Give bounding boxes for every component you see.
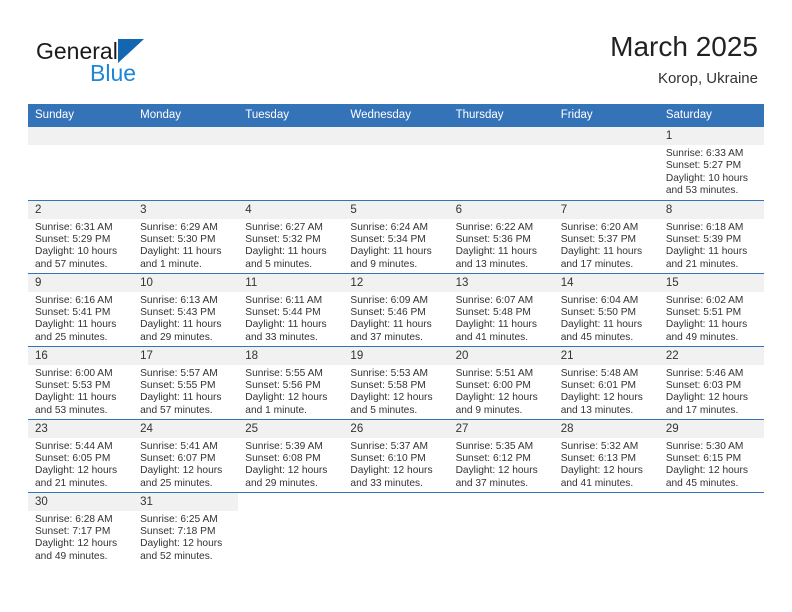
- daylight-duration-line2: and 1 minute.: [245, 405, 337, 417]
- daylight-duration-line1: Daylight: 12 hours: [666, 465, 758, 477]
- day-cell[interactable]: 3Sunrise: 6:29 AMSunset: 5:30 PMDaylight…: [133, 200, 238, 273]
- day-cell-empty: [659, 492, 764, 565]
- daylight-duration-line1: Daylight: 12 hours: [350, 392, 442, 404]
- day-details: Sunrise: 6:22 AMSunset: 5:36 PMDaylight:…: [449, 219, 554, 272]
- page-header: General Blue March 2025 Korop, Ukraine: [0, 0, 792, 104]
- day-number: 14: [554, 274, 659, 292]
- day-cell-empty: [449, 492, 554, 565]
- calendar-week-row: 9Sunrise: 6:16 AMSunset: 5:41 PMDaylight…: [28, 273, 764, 346]
- day-cell-empty: [554, 492, 659, 565]
- day-details: Sunrise: 5:37 AMSunset: 6:10 PMDaylight:…: [343, 438, 448, 491]
- sunset-time: Sunset: 6:01 PM: [561, 380, 653, 392]
- day-details: Sunrise: 6:02 AMSunset: 5:51 PMDaylight:…: [659, 292, 764, 345]
- day-cell[interactable]: 11Sunrise: 6:11 AMSunset: 5:44 PMDayligh…: [238, 273, 343, 346]
- sunrise-time: Sunrise: 5:53 AM: [350, 368, 442, 380]
- day-number: 12: [343, 274, 448, 292]
- daylight-duration-line1: Daylight: 11 hours: [666, 246, 758, 258]
- sunset-time: Sunset: 6:00 PM: [456, 380, 548, 392]
- sunrise-time: Sunrise: 6:02 AM: [666, 295, 758, 307]
- day-cell[interactable]: 15Sunrise: 6:02 AMSunset: 5:51 PMDayligh…: [659, 273, 764, 346]
- daylight-duration-line1: Daylight: 12 hours: [456, 392, 548, 404]
- daylight-duration-line2: and 9 minutes.: [456, 405, 548, 417]
- day-number: 3: [133, 201, 238, 219]
- calendar-header-row: Sunday Monday Tuesday Wednesday Thursday…: [28, 104, 764, 127]
- daylight-duration-line1: Daylight: 11 hours: [140, 392, 232, 404]
- day-number: 5: [343, 201, 448, 219]
- day-number: 13: [449, 274, 554, 292]
- day-number: 25: [238, 420, 343, 438]
- day-cell[interactable]: 25Sunrise: 5:39 AMSunset: 6:08 PMDayligh…: [238, 419, 343, 492]
- day-number: 1: [659, 127, 764, 145]
- day-cell[interactable]: 4Sunrise: 6:27 AMSunset: 5:32 PMDaylight…: [238, 200, 343, 273]
- daylight-duration-line1: Daylight: 12 hours: [140, 538, 232, 550]
- sunrise-time: Sunrise: 6:25 AM: [140, 514, 232, 526]
- sunrise-time: Sunrise: 5:55 AM: [245, 368, 337, 380]
- daylight-duration-line2: and 41 minutes.: [456, 332, 548, 344]
- sunrise-time: Sunrise: 6:29 AM: [140, 222, 232, 234]
- day-details: Sunrise: 5:32 AMSunset: 6:13 PMDaylight:…: [554, 438, 659, 491]
- daylight-duration-line1: Daylight: 11 hours: [140, 246, 232, 258]
- daylight-duration-line1: Daylight: 12 hours: [666, 392, 758, 404]
- day-cell[interactable]: 14Sunrise: 6:04 AMSunset: 5:50 PMDayligh…: [554, 273, 659, 346]
- sunset-time: Sunset: 6:08 PM: [245, 453, 337, 465]
- daylight-duration-line2: and 21 minutes.: [666, 259, 758, 271]
- day-cell-empty: [343, 127, 448, 200]
- day-details: Sunrise: 6:31 AMSunset: 5:29 PMDaylight:…: [28, 219, 133, 272]
- daylight-duration-line1: Daylight: 12 hours: [140, 465, 232, 477]
- day-number: 6: [449, 201, 554, 219]
- day-cell[interactable]: 27Sunrise: 5:35 AMSunset: 6:12 PMDayligh…: [449, 419, 554, 492]
- day-details: Sunrise: 6:29 AMSunset: 5:30 PMDaylight:…: [133, 219, 238, 272]
- daylight-duration-line2: and 52 minutes.: [140, 551, 232, 563]
- day-cell[interactable]: 18Sunrise: 5:55 AMSunset: 5:56 PMDayligh…: [238, 346, 343, 419]
- daylight-duration-line1: Daylight: 11 hours: [245, 319, 337, 331]
- day-number: [449, 493, 554, 511]
- sunset-time: Sunset: 5:55 PM: [140, 380, 232, 392]
- daylight-duration-line2: and 25 minutes.: [35, 332, 127, 344]
- daylight-duration-line2: and 37 minutes.: [456, 478, 548, 490]
- day-cell[interactable]: 13Sunrise: 6:07 AMSunset: 5:48 PMDayligh…: [449, 273, 554, 346]
- calendar-week-row: 30Sunrise: 6:28 AMSunset: 7:17 PMDayligh…: [28, 492, 764, 565]
- sunrise-time: Sunrise: 6:27 AM: [245, 222, 337, 234]
- day-details: Sunrise: 5:39 AMSunset: 6:08 PMDaylight:…: [238, 438, 343, 491]
- sunset-time: Sunset: 5:50 PM: [561, 307, 653, 319]
- day-number: 18: [238, 347, 343, 365]
- day-number: 2: [28, 201, 133, 219]
- title-block: March 2025 Korop, Ukraine: [610, 30, 758, 90]
- day-cell-empty: [449, 127, 554, 200]
- page-title: March 2025: [610, 30, 758, 64]
- sunrise-time: Sunrise: 5:44 AM: [35, 441, 127, 453]
- sunrise-time: Sunrise: 6:11 AM: [245, 295, 337, 307]
- daylight-duration-line1: Daylight: 11 hours: [140, 319, 232, 331]
- day-number: 21: [554, 347, 659, 365]
- day-number: 10: [133, 274, 238, 292]
- sunrise-time: Sunrise: 6:20 AM: [561, 222, 653, 234]
- day-number: 17: [133, 347, 238, 365]
- sunrise-time: Sunrise: 6:16 AM: [35, 295, 127, 307]
- day-number: 26: [343, 420, 448, 438]
- day-details: Sunrise: 5:46 AMSunset: 6:03 PMDaylight:…: [659, 365, 764, 418]
- daylight-duration-line2: and 33 minutes.: [350, 478, 442, 490]
- day-number: [133, 127, 238, 145]
- daylight-duration-line1: Daylight: 12 hours: [245, 392, 337, 404]
- sunrise-time: Sunrise: 6:04 AM: [561, 295, 653, 307]
- sunset-time: Sunset: 6:13 PM: [561, 453, 653, 465]
- weekday-header-saturday: Saturday: [659, 104, 764, 127]
- sunset-time: Sunset: 5:43 PM: [140, 307, 232, 319]
- day-number: [554, 493, 659, 511]
- day-details: Sunrise: 5:30 AMSunset: 6:15 PMDaylight:…: [659, 438, 764, 491]
- weekday-header-monday: Monday: [133, 104, 238, 127]
- daylight-duration-line1: Daylight: 12 hours: [245, 465, 337, 477]
- daylight-duration-line2: and 25 minutes.: [140, 478, 232, 490]
- day-cell[interactable]: 26Sunrise: 5:37 AMSunset: 6:10 PMDayligh…: [343, 419, 448, 492]
- daylight-duration-line1: Daylight: 10 hours: [35, 246, 127, 258]
- day-cell[interactable]: 23Sunrise: 5:44 AMSunset: 6:05 PMDayligh…: [28, 419, 133, 492]
- daylight-duration-line2: and 5 minutes.: [245, 259, 337, 271]
- day-cell-empty: [133, 127, 238, 200]
- day-cell[interactable]: 9Sunrise: 6:16 AMSunset: 5:41 PMDaylight…: [28, 273, 133, 346]
- sunset-time: Sunset: 5:32 PM: [245, 234, 337, 246]
- calendar-week-row: 23Sunrise: 5:44 AMSunset: 6:05 PMDayligh…: [28, 419, 764, 492]
- day-details: Sunrise: 6:24 AMSunset: 5:34 PMDaylight:…: [343, 219, 448, 272]
- daylight-duration-line2: and 49 minutes.: [666, 332, 758, 344]
- day-number: [238, 127, 343, 145]
- day-cell[interactable]: 20Sunrise: 5:51 AMSunset: 6:00 PMDayligh…: [449, 346, 554, 419]
- day-number: 8: [659, 201, 764, 219]
- daylight-duration-line2: and 45 minutes.: [561, 332, 653, 344]
- sunrise-time: Sunrise: 5:41 AM: [140, 441, 232, 453]
- calendar-week-row: 1Sunrise: 6:33 AMSunset: 5:27 PMDaylight…: [28, 127, 764, 200]
- daylight-duration-line1: Daylight: 12 hours: [35, 538, 127, 550]
- daylight-duration-line1: Daylight: 12 hours: [35, 465, 127, 477]
- day-number: 20: [449, 347, 554, 365]
- day-cell[interactable]: 12Sunrise: 6:09 AMSunset: 5:46 PMDayligh…: [343, 273, 448, 346]
- daylight-duration-line2: and 53 minutes.: [35, 405, 127, 417]
- day-cell[interactable]: 30Sunrise: 6:28 AMSunset: 7:17 PMDayligh…: [28, 492, 133, 565]
- day-cell[interactable]: 28Sunrise: 5:32 AMSunset: 6:13 PMDayligh…: [554, 419, 659, 492]
- day-details: Sunrise: 6:16 AMSunset: 5:41 PMDaylight:…: [28, 292, 133, 345]
- day-cell[interactable]: 5Sunrise: 6:24 AMSunset: 5:34 PMDaylight…: [343, 200, 448, 273]
- sunset-time: Sunset: 6:15 PM: [666, 453, 758, 465]
- day-number: 31: [133, 493, 238, 511]
- logo-text-blue: Blue: [90, 60, 136, 86]
- sunset-time: Sunset: 6:03 PM: [666, 380, 758, 392]
- day-number: 15: [659, 274, 764, 292]
- day-details: Sunrise: 5:55 AMSunset: 5:56 PMDaylight:…: [238, 365, 343, 418]
- calendar-week-row: 16Sunrise: 6:00 AMSunset: 5:53 PMDayligh…: [28, 346, 764, 419]
- day-number: 27: [449, 420, 554, 438]
- day-cell-empty: [343, 492, 448, 565]
- sunrise-time: Sunrise: 5:57 AM: [140, 368, 232, 380]
- sunrise-time: Sunrise: 6:22 AM: [456, 222, 548, 234]
- day-number: 4: [238, 201, 343, 219]
- day-cell[interactable]: 29Sunrise: 5:30 AMSunset: 6:15 PMDayligh…: [659, 419, 764, 492]
- calendar-page: General Blue March 2025 Korop, Ukraine S…: [0, 0, 792, 612]
- sunrise-time: Sunrise: 6:24 AM: [350, 222, 442, 234]
- day-cell[interactable]: 21Sunrise: 5:48 AMSunset: 6:01 PMDayligh…: [554, 346, 659, 419]
- day-details: Sunrise: 6:11 AMSunset: 5:44 PMDaylight:…: [238, 292, 343, 345]
- day-number: [343, 127, 448, 145]
- weekday-header-friday: Friday: [554, 104, 659, 127]
- sunset-time: Sunset: 5:46 PM: [350, 307, 442, 319]
- general-blue-logo[interactable]: General Blue: [36, 38, 266, 94]
- daylight-duration-line1: Daylight: 11 hours: [350, 246, 442, 258]
- day-details: Sunrise: 6:20 AMSunset: 5:37 PMDaylight:…: [554, 219, 659, 272]
- daylight-duration-line2: and 53 minutes.: [666, 185, 758, 197]
- sunset-time: Sunset: 5:36 PM: [456, 234, 548, 246]
- sunrise-time: Sunrise: 5:51 AM: [456, 368, 548, 380]
- day-cell[interactable]: 22Sunrise: 5:46 AMSunset: 6:03 PMDayligh…: [659, 346, 764, 419]
- day-cell[interactable]: 2Sunrise: 6:31 AMSunset: 5:29 PMDaylight…: [28, 200, 133, 273]
- daylight-duration-line2: and 21 minutes.: [35, 478, 127, 490]
- day-cell[interactable]: 24Sunrise: 5:41 AMSunset: 6:07 PMDayligh…: [133, 419, 238, 492]
- sunset-time: Sunset: 6:10 PM: [350, 453, 442, 465]
- day-cell[interactable]: 17Sunrise: 5:57 AMSunset: 5:55 PMDayligh…: [133, 346, 238, 419]
- day-details: Sunrise: 6:33 AMSunset: 5:27 PMDaylight:…: [659, 145, 764, 198]
- day-details: Sunrise: 6:00 AMSunset: 5:53 PMDaylight:…: [28, 365, 133, 418]
- day-number: 19: [343, 347, 448, 365]
- day-details: Sunrise: 5:53 AMSunset: 5:58 PMDaylight:…: [343, 365, 448, 418]
- day-details: Sunrise: 5:41 AMSunset: 6:07 PMDaylight:…: [133, 438, 238, 491]
- sunset-time: Sunset: 5:53 PM: [35, 380, 127, 392]
- sunrise-time: Sunrise: 6:33 AM: [666, 148, 758, 160]
- sunset-time: Sunset: 5:39 PM: [666, 234, 758, 246]
- day-cell-empty: [238, 492, 343, 565]
- daylight-duration-line1: Daylight: 10 hours: [666, 173, 758, 185]
- sunrise-time: Sunrise: 6:09 AM: [350, 295, 442, 307]
- sunrise-time: Sunrise: 6:00 AM: [35, 368, 127, 380]
- daylight-duration-line2: and 37 minutes.: [350, 332, 442, 344]
- day-number: 11: [238, 274, 343, 292]
- daylight-duration-line1: Daylight: 11 hours: [561, 319, 653, 331]
- daylight-duration-line2: and 57 minutes.: [35, 259, 127, 271]
- day-details: Sunrise: 6:25 AMSunset: 7:18 PMDaylight:…: [133, 511, 238, 564]
- daylight-duration-line1: Daylight: 11 hours: [350, 319, 442, 331]
- day-cell[interactable]: 1Sunrise: 6:33 AMSunset: 5:27 PMDaylight…: [659, 127, 764, 200]
- sunset-time: Sunset: 6:12 PM: [456, 453, 548, 465]
- sunrise-time: Sunrise: 5:48 AM: [561, 368, 653, 380]
- sunset-time: Sunset: 7:18 PM: [140, 526, 232, 538]
- day-details: Sunrise: 5:35 AMSunset: 6:12 PMDaylight:…: [449, 438, 554, 491]
- sunrise-time: Sunrise: 6:07 AM: [456, 295, 548, 307]
- day-details: Sunrise: 6:07 AMSunset: 5:48 PMDaylight:…: [449, 292, 554, 345]
- sunset-time: Sunset: 5:44 PM: [245, 307, 337, 319]
- page-subtitle: Korop, Ukraine: [610, 68, 758, 90]
- day-cell[interactable]: 16Sunrise: 6:00 AMSunset: 5:53 PMDayligh…: [28, 346, 133, 419]
- sunrise-time: Sunrise: 6:28 AM: [35, 514, 127, 526]
- day-number: [343, 493, 448, 511]
- daylight-duration-line1: Daylight: 11 hours: [561, 246, 653, 258]
- sunrise-time: Sunrise: 5:39 AM: [245, 441, 337, 453]
- sunset-time: Sunset: 5:29 PM: [35, 234, 127, 246]
- sunset-time: Sunset: 5:27 PM: [666, 160, 758, 172]
- daylight-duration-line2: and 45 minutes.: [666, 478, 758, 490]
- sunset-time: Sunset: 6:05 PM: [35, 453, 127, 465]
- sunrise-time: Sunrise: 5:32 AM: [561, 441, 653, 453]
- day-number: [659, 493, 764, 511]
- day-number: 30: [28, 493, 133, 511]
- daylight-duration-line2: and 13 minutes.: [561, 405, 653, 417]
- day-cell-empty: [554, 127, 659, 200]
- sunset-time: Sunset: 5:30 PM: [140, 234, 232, 246]
- day-number: 16: [28, 347, 133, 365]
- daylight-duration-line1: Daylight: 12 hours: [456, 465, 548, 477]
- day-cell[interactable]: 31Sunrise: 6:25 AMSunset: 7:18 PMDayligh…: [133, 492, 238, 565]
- calendar-table: Sunday Monday Tuesday Wednesday Thursday…: [28, 104, 764, 565]
- daylight-duration-line2: and 33 minutes.: [245, 332, 337, 344]
- day-number: 29: [659, 420, 764, 438]
- daylight-duration-line2: and 29 minutes.: [245, 478, 337, 490]
- daylight-duration-line1: Daylight: 11 hours: [456, 246, 548, 258]
- day-details: Sunrise: 6:13 AMSunset: 5:43 PMDaylight:…: [133, 292, 238, 345]
- day-number: 23: [28, 420, 133, 438]
- daylight-duration-line1: Daylight: 11 hours: [666, 319, 758, 331]
- daylight-duration-line1: Daylight: 12 hours: [350, 465, 442, 477]
- daylight-duration-line1: Daylight: 12 hours: [561, 392, 653, 404]
- day-number: [554, 127, 659, 145]
- sunset-time: Sunset: 5:34 PM: [350, 234, 442, 246]
- calendar-body: 1Sunrise: 6:33 AMSunset: 5:27 PMDaylight…: [28, 127, 764, 565]
- weekday-header-sunday: Sunday: [28, 104, 133, 127]
- day-number: [238, 493, 343, 511]
- day-number: 28: [554, 420, 659, 438]
- daylight-duration-line2: and 29 minutes.: [140, 332, 232, 344]
- sunset-time: Sunset: 5:56 PM: [245, 380, 337, 392]
- day-details: Sunrise: 5:44 AMSunset: 6:05 PMDaylight:…: [28, 438, 133, 491]
- daylight-duration-line1: Daylight: 12 hours: [561, 465, 653, 477]
- sunrise-time: Sunrise: 5:46 AM: [666, 368, 758, 380]
- sunset-time: Sunset: 6:07 PM: [140, 453, 232, 465]
- day-details: Sunrise: 5:51 AMSunset: 6:00 PMDaylight:…: [449, 365, 554, 418]
- weekday-header-tuesday: Tuesday: [238, 104, 343, 127]
- day-details: Sunrise: 6:09 AMSunset: 5:46 PMDaylight:…: [343, 292, 448, 345]
- sunset-time: Sunset: 5:58 PM: [350, 380, 442, 392]
- sunset-time: Sunset: 5:37 PM: [561, 234, 653, 246]
- day-cell-empty: [238, 127, 343, 200]
- day-cell[interactable]: 19Sunrise: 5:53 AMSunset: 5:58 PMDayligh…: [343, 346, 448, 419]
- day-number: 9: [28, 274, 133, 292]
- sunset-time: Sunset: 5:51 PM: [666, 307, 758, 319]
- day-number: 22: [659, 347, 764, 365]
- day-number: 7: [554, 201, 659, 219]
- daylight-duration-line2: and 5 minutes.: [350, 405, 442, 417]
- daylight-duration-line1: Daylight: 11 hours: [245, 246, 337, 258]
- daylight-duration-line2: and 1 minute.: [140, 259, 232, 271]
- day-number: 24: [133, 420, 238, 438]
- daylight-duration-line2: and 9 minutes.: [350, 259, 442, 271]
- sunrise-time: Sunrise: 6:13 AM: [140, 295, 232, 307]
- day-details: Sunrise: 5:48 AMSunset: 6:01 PMDaylight:…: [554, 365, 659, 418]
- day-details: Sunrise: 6:18 AMSunset: 5:39 PMDaylight:…: [659, 219, 764, 272]
- day-cell[interactable]: 7Sunrise: 6:20 AMSunset: 5:37 PMDaylight…: [554, 200, 659, 273]
- daylight-duration-line2: and 41 minutes.: [561, 478, 653, 490]
- day-number: [449, 127, 554, 145]
- daylight-duration-line1: Daylight: 11 hours: [456, 319, 548, 331]
- sunrise-time: Sunrise: 6:18 AM: [666, 222, 758, 234]
- daylight-duration-line2: and 17 minutes.: [666, 405, 758, 417]
- day-number: [28, 127, 133, 145]
- calendar-week-row: 2Sunrise: 6:31 AMSunset: 5:29 PMDaylight…: [28, 200, 764, 273]
- day-details: Sunrise: 6:28 AMSunset: 7:17 PMDaylight:…: [28, 511, 133, 564]
- day-details: Sunrise: 6:04 AMSunset: 5:50 PMDaylight:…: [554, 292, 659, 345]
- sunset-time: Sunset: 5:48 PM: [456, 307, 548, 319]
- daylight-duration-line1: Daylight: 11 hours: [35, 392, 127, 404]
- sunrise-time: Sunrise: 5:30 AM: [666, 441, 758, 453]
- daylight-duration-line2: and 57 minutes.: [140, 405, 232, 417]
- day-cell[interactable]: 6Sunrise: 6:22 AMSunset: 5:36 PMDaylight…: [449, 200, 554, 273]
- daylight-duration-line2: and 13 minutes.: [456, 259, 548, 271]
- weekday-header-thursday: Thursday: [449, 104, 554, 127]
- sunrise-time: Sunrise: 5:35 AM: [456, 441, 548, 453]
- daylight-duration-line2: and 49 minutes.: [35, 551, 127, 563]
- sunrise-time: Sunrise: 5:37 AM: [350, 441, 442, 453]
- sunrise-time: Sunrise: 6:31 AM: [35, 222, 127, 234]
- day-details: Sunrise: 6:27 AMSunset: 5:32 PMDaylight:…: [238, 219, 343, 272]
- day-cell-empty: [28, 127, 133, 200]
- day-cell[interactable]: 10Sunrise: 6:13 AMSunset: 5:43 PMDayligh…: [133, 273, 238, 346]
- day-cell[interactable]: 8Sunrise: 6:18 AMSunset: 5:39 PMDaylight…: [659, 200, 764, 273]
- daylight-duration-line1: Daylight: 11 hours: [35, 319, 127, 331]
- weekday-header-wednesday: Wednesday: [343, 104, 448, 127]
- sunset-time: Sunset: 5:41 PM: [35, 307, 127, 319]
- day-details: Sunrise: 5:57 AMSunset: 5:55 PMDaylight:…: [133, 365, 238, 418]
- sunset-time: Sunset: 7:17 PM: [35, 526, 127, 538]
- daylight-duration-line2: and 17 minutes.: [561, 259, 653, 271]
